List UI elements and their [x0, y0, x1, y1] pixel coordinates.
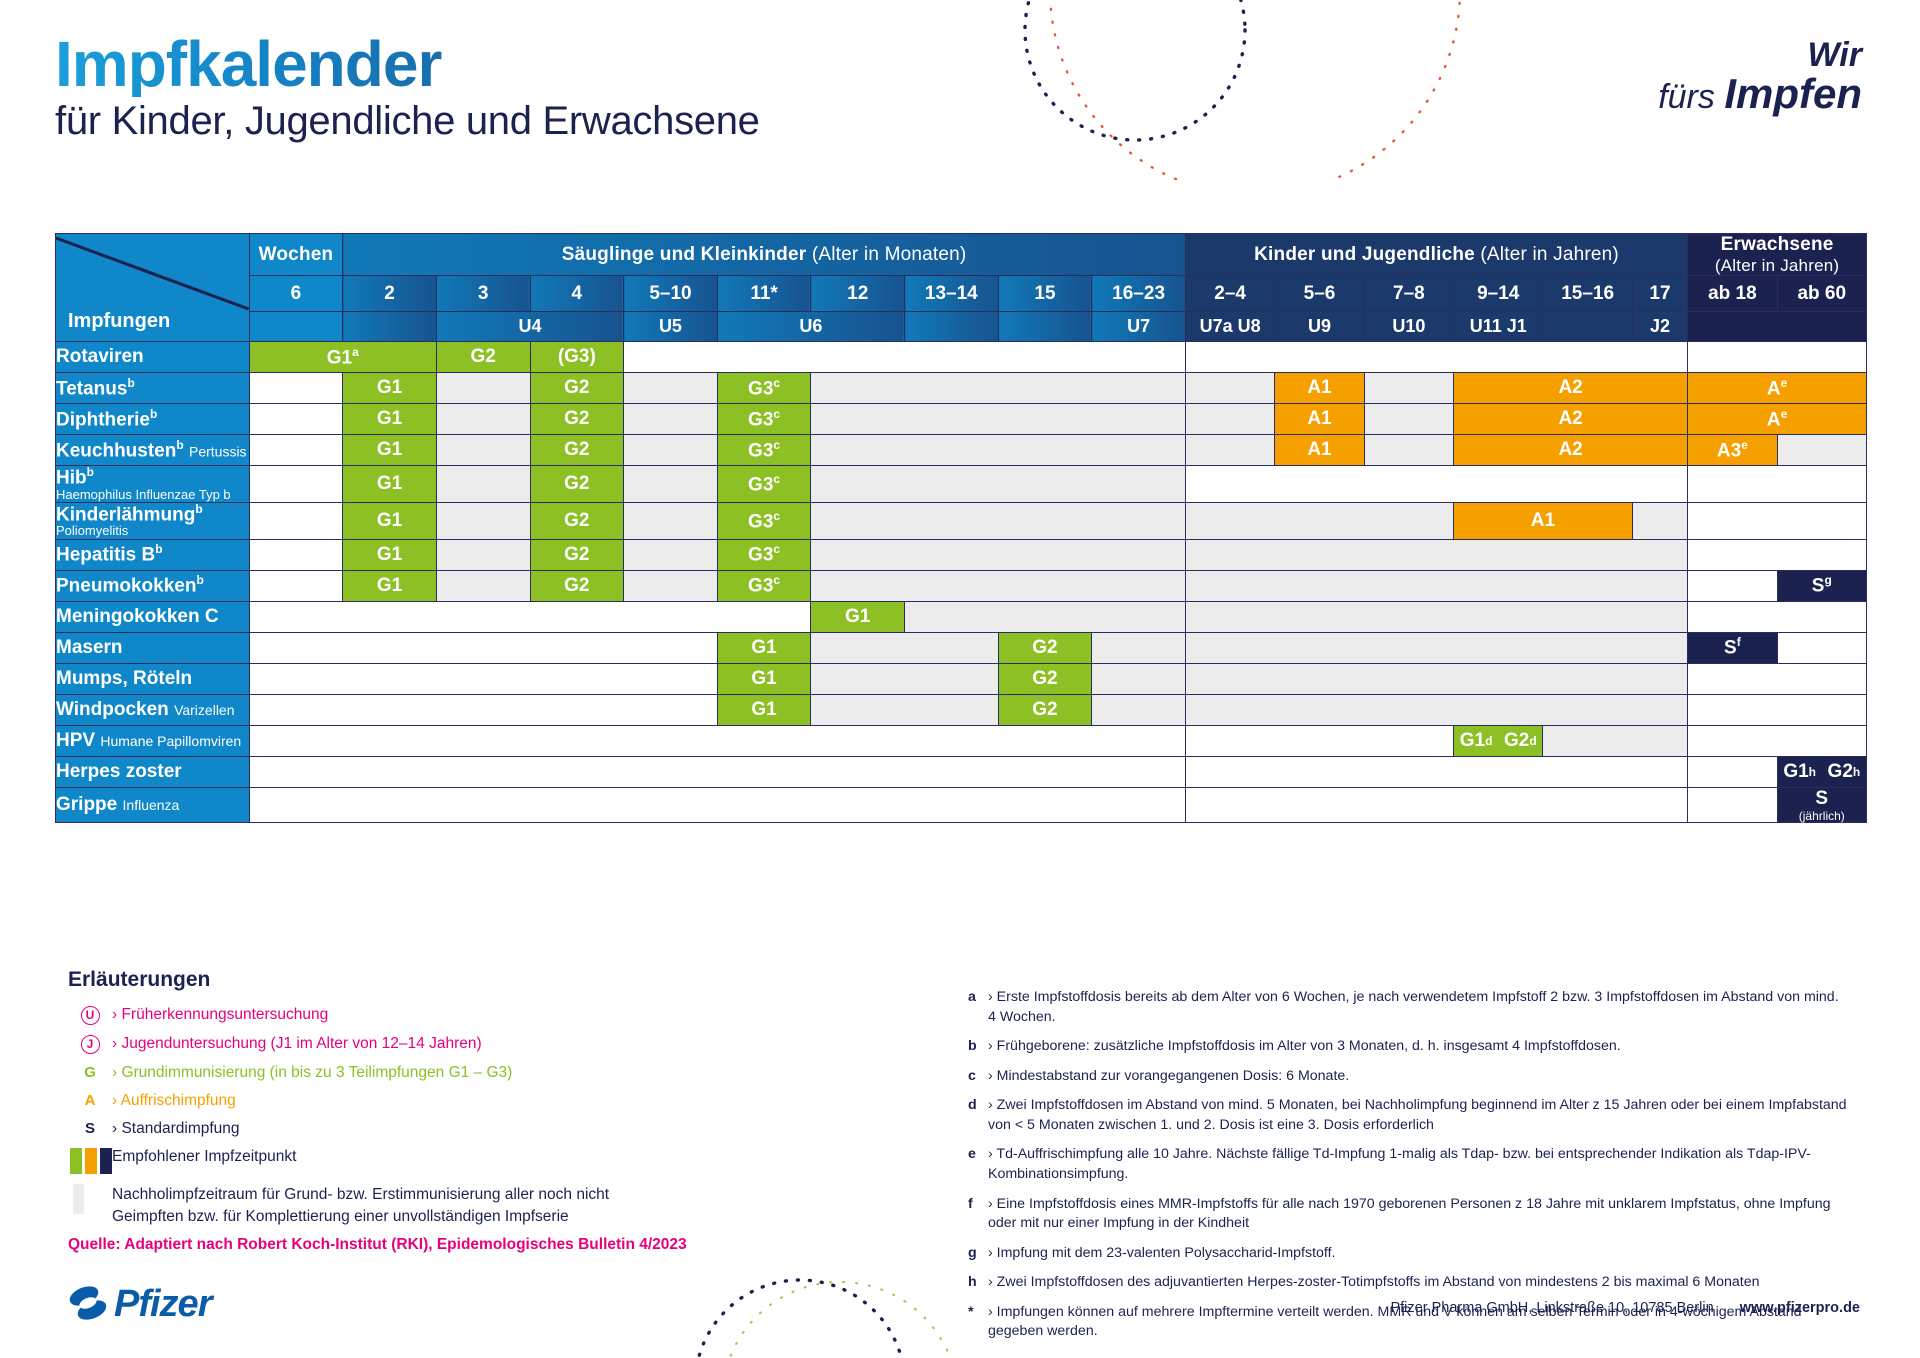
cell-empty-r10-c7 — [1777, 632, 1866, 663]
cell-empty-r9-c2 — [905, 601, 1186, 632]
pfizer-helix-icon — [68, 1282, 114, 1326]
ucode-j2: J2 — [1632, 312, 1687, 342]
page-title: Impfkalender — [55, 32, 760, 97]
cell-empty-r14-c2 — [1688, 756, 1777, 787]
cell-g1-r5: G1 — [343, 466, 437, 503]
cell-a2-r2: A2 — [1454, 373, 1688, 404]
cell-a1-r3: A1 — [1275, 404, 1364, 435]
legend-item-g: G› Grundimmunisierung (in bis zu 3 Teili… — [68, 1064, 828, 1082]
cell-empty-r2-c6 — [811, 373, 1186, 404]
cell-a1-r6: A1 — [1454, 503, 1633, 540]
cell-empty-r6-c2 — [436, 503, 530, 540]
masthead: Impfkalender für Kinder, Jugendliche und… — [55, 32, 760, 143]
ucode-u5: U5 — [624, 312, 718, 342]
cell-g1-r11: G1 — [717, 663, 811, 694]
cell-g3-r6: G3c — [717, 503, 811, 540]
cell-empty-r7-c7 — [1185, 539, 1687, 570]
footnote-a: a› Erste Impfstoffdosis bereits ab dem A… — [968, 988, 1848, 1028]
company-url[interactable]: www.pfizerpro.de — [1740, 1300, 1860, 1316]
age-15-16y: 15–16 — [1543, 276, 1632, 312]
age-17y: 17 — [1632, 276, 1687, 312]
cell-g3-r7: G3c — [717, 539, 811, 570]
vaccination-calendar: Impfungen Wochen Säuglinge und Kleinkind… — [55, 233, 1867, 823]
vaccine-name-9[interactable]: Meningokokken C — [56, 601, 250, 632]
cell-empty-r9-c0 — [249, 601, 811, 632]
legend-item-text: › Auffrischimpfung — [112, 1092, 828, 1110]
ucode-row: U4 U5 U6 U7 U7a U8 U9 U10 U11 J1 J2 — [56, 312, 1867, 342]
group-adults-label: Erwachsene — [1721, 234, 1834, 255]
cell-g1-r10: G1 — [717, 632, 811, 663]
cell-g2-r10: G2 — [998, 632, 1092, 663]
cell-a1-r2: A1 — [1275, 373, 1364, 404]
cell-empty-r12-c5 — [1185, 694, 1687, 725]
footnotes: a› Erste Impfstoffdosis bereits ab dem A… — [968, 988, 1848, 1352]
group-infants-label: Säuglinge und Kleinkinder — [562, 244, 807, 265]
cell-empty-r8-c4 — [624, 570, 718, 601]
cell-empty-r15-c2 — [1688, 787, 1777, 822]
cell-empty-r5-c8 — [1688, 466, 1867, 503]
cell-empty-r7-c6 — [811, 539, 1186, 570]
group-infants: Säuglinge und Kleinkinder (Alter in Mona… — [343, 234, 1186, 276]
vaccine-name-7[interactable]: Hepatitis Bb — [56, 539, 250, 570]
legend-item-j: J› Jugenduntersuchung (J1 im Alter von 1… — [68, 1035, 828, 1054]
cell-empty-r8-c7 — [1185, 570, 1687, 601]
footnote-key: h — [968, 1273, 988, 1293]
legend-key-icon: U — [68, 1006, 112, 1025]
cell-empty-r4-c2 — [436, 435, 530, 466]
ucode-u7a-u8: U7a U8 — [1185, 312, 1274, 342]
legend-key-icon: S — [68, 1120, 112, 1137]
claim-line-1: Wir — [1658, 38, 1862, 73]
vaccine-name-11[interactable]: Mumps, Röteln — [56, 663, 250, 694]
age-9-14y: 9–14 — [1454, 276, 1543, 312]
dotted-circle-decoration-top — [1015, 0, 1575, 180]
cell-empty-r13-c1 — [1185, 725, 1453, 756]
cell-empty-r3-c0 — [249, 404, 343, 435]
footnote-key: f — [968, 1195, 988, 1235]
cell-g1-r12: G1 — [717, 694, 811, 725]
pfizer-logo: Pfizer — [68, 1282, 211, 1326]
cell-g3-r3: G3c — [717, 404, 811, 435]
table-row: KinderlähmungbPoliomyelitisG1G2G3cA1 — [56, 503, 1867, 540]
cell-g2-r5: G2 — [530, 466, 624, 503]
cell-empty-r12-c4 — [1092, 694, 1186, 725]
table-row: Hepatitis BbG1G2G3c — [56, 539, 1867, 570]
footnote-f: f› Eine Impfstoffdosis eines MMR-Impfsto… — [968, 1195, 1848, 1235]
cell-empty-r11-c5 — [1185, 663, 1687, 694]
ucode-blank-1 — [249, 312, 343, 342]
pfizer-wordmark: Pfizer — [114, 1283, 211, 1326]
cell-empty-r5-c6 — [811, 466, 1186, 503]
table-row: Keuchhustenb PertussisG1G2G3cA1A2A3e — [56, 435, 1867, 466]
cell-a1-r4: A1 — [1275, 435, 1364, 466]
footnote-d: d› Zwei Impfstoffdosen im Abstand von mi… — [968, 1096, 1848, 1136]
cell-empty-r8-c0 — [249, 570, 343, 601]
age-ab60: ab 60 — [1777, 276, 1866, 312]
group-children-label: Kinder und Jugendliche — [1254, 244, 1475, 265]
cell-empty-r3-c2 — [436, 404, 530, 435]
footnote-e: e› Td-Auffrischimpfung alle 10 Jahre. Nä… — [968, 1145, 1848, 1185]
legend-items: U› FrüherkennungsuntersuchungJ› Jugendun… — [68, 1006, 828, 1138]
cell-empty-r14-c1 — [1185, 756, 1687, 787]
legend-item-a: A› Auffrischimpfung — [68, 1092, 828, 1110]
cell-empty-r4-c6 — [811, 435, 1186, 466]
cell-empty-r7-c2 — [436, 539, 530, 570]
ucode-u4: U4 — [436, 312, 623, 342]
cell-a-r2: Ae — [1688, 373, 1867, 404]
cell-empty-r10-c5 — [1185, 632, 1687, 663]
legend-item-text: › Jugenduntersuchung (J1 im Alter von 12… — [112, 1035, 828, 1053]
legend-item-text: › Standardimpfung — [112, 1120, 828, 1138]
legend-item-text: › Grundimmunisierung (in bis zu 3 Teilim… — [112, 1064, 828, 1082]
cell-empty-r1-c4 — [1185, 342, 1687, 373]
table-row: Grippe InfluenzaS(jährlich) — [56, 787, 1867, 822]
footnote-key: e — [968, 1145, 988, 1185]
table-row: TetanusbG1G2G3cA1A2Ae — [56, 373, 1867, 404]
cell-empty-r4-c0 — [249, 435, 343, 466]
cell-g2-r7: G2 — [530, 539, 624, 570]
age-6w: 6 — [249, 276, 343, 312]
cell-empty-r7-c0 — [249, 539, 343, 570]
ucode-u7: U7 — [1092, 312, 1186, 342]
vaccine-name-1[interactable]: Rotaviren — [56, 342, 250, 373]
age-16-23m: 16–23 — [1092, 276, 1186, 312]
table-row: HibbHaemophilus Influenzae Typ bG1G2G3c — [56, 466, 1867, 503]
footnote-text: › Td-Auffrischimpfung alle 10 Jahre. Näc… — [988, 1145, 1848, 1185]
footer-contact: Pfizer Pharma GmbH, Linkstraße 10, 10785… — [1390, 1300, 1860, 1316]
cell-g3-r2: G3c — [717, 373, 811, 404]
corner-label: Impfungen — [56, 310, 249, 341]
cell-empty-r10-c2 — [811, 632, 998, 663]
cell-hpv-split: G1dG2d — [1454, 725, 1543, 756]
footnote-text: › Erste Impfstoffdosis bereits ab dem Al… — [988, 988, 1848, 1028]
ucode-blank-4 — [998, 312, 1092, 342]
age-2m: 2 — [343, 276, 437, 312]
age-13-14m: 13–14 — [905, 276, 999, 312]
vaccine-name-4[interactable]: Keuchhustenb Pertussis — [56, 435, 250, 466]
impfkalender-poster: Impfkalender für Kinder, Jugendliche und… — [0, 0, 1920, 1358]
cell-empty-r2-c2 — [436, 373, 530, 404]
vaccine-name-3[interactable]: Diphtherieb — [56, 404, 250, 435]
age-11m: 11* — [717, 276, 811, 312]
dotted-circle-decoration-bottom — [690, 1270, 970, 1358]
cell-g1-r1: G1a — [249, 342, 436, 373]
cell-g2-r8: G2 — [530, 570, 624, 601]
footnote-c: c› Mindestabstand zur vorangegangenen Do… — [968, 1067, 1848, 1087]
cell-g3-r8: G3c — [717, 570, 811, 601]
cell-s-r15: S(jährlich) — [1777, 787, 1866, 822]
ucode-u11-j1: U11 J1 — [1454, 312, 1543, 342]
age-7-8y: 7–8 — [1364, 276, 1453, 312]
legend-swatch-row: Empfohlener Impfzeitpunkt — [68, 1148, 828, 1174]
calendar-table: Impfungen Wochen Säuglinge und Kleinkind… — [55, 233, 1867, 823]
cell-g2-r4: G2 — [530, 435, 624, 466]
cell-empty-r2-c4 — [624, 373, 718, 404]
footnote-text: › Mindestabstand zur vorangegangenen Dos… — [988, 1067, 1848, 1087]
legend-key-icon: G — [68, 1064, 112, 1081]
claim-line-2: fürs Impfen — [1658, 73, 1862, 116]
age-15m: 15 — [998, 276, 1092, 312]
cell-empty-r9-c4 — [1688, 601, 1867, 632]
vaccine-name-10[interactable]: Masern — [56, 632, 250, 663]
calendar-header: Impfungen Wochen Säuglinge und Kleinkind… — [56, 234, 1867, 342]
legend-catchup-row: Nachholimpfzeitraum für Grund- bzw. Erst… — [68, 1184, 828, 1229]
cell-empty-r2-c9 — [1364, 373, 1453, 404]
cell-empty-r11-c6 — [1688, 663, 1867, 694]
table-row: Windpocken VarizellenG1G2 — [56, 694, 1867, 725]
vaccine-name-5[interactable]: HibbHaemophilus Influenzae Typ b — [56, 466, 250, 503]
cell-empty-r3-c7 — [1185, 404, 1274, 435]
cell-empty-r4-c9 — [1364, 435, 1453, 466]
table-row: Herpes zosterG1hG2h — [56, 756, 1867, 787]
cell-g1-r8: G1 — [343, 570, 437, 601]
legend-item-u: U› Früherkennungsuntersuchung — [68, 1006, 828, 1025]
footnote-key: d — [968, 1096, 988, 1136]
cell-empty-r12-c2 — [811, 694, 998, 725]
cell-empty-r4-c12 — [1777, 435, 1866, 466]
cell-g2-r6: G2 — [530, 503, 624, 540]
legend-item-s: S› Standardimpfung — [68, 1120, 828, 1138]
cell-empty-r5-c4 — [624, 466, 718, 503]
footnote-text: › Eine Impfstoffdosis eines MMR-Impfstof… — [988, 1195, 1848, 1235]
footnote-key: * — [968, 1303, 988, 1343]
cell-g3-r5: G3c — [717, 466, 811, 503]
cell-empty-r6-c9 — [1632, 503, 1687, 540]
footnote-key: g — [968, 1244, 988, 1264]
cell-g1-r4: G1 — [343, 435, 437, 466]
cell-empty-r3-c6 — [811, 404, 1186, 435]
cell-g2-r1: G2 — [436, 342, 530, 373]
vaccine-name-15[interactable]: Grippe Influenza — [56, 787, 250, 822]
footnote-text: › Impfung mit dem 23-valenten Polysaccha… — [988, 1244, 1848, 1264]
source-note: Quelle: Adaptiert nach Robert Koch-Insti… — [68, 1236, 687, 1254]
cell-hz-split: G1hG2h — [1777, 756, 1866, 787]
footnote-key: c — [968, 1067, 988, 1087]
vaccine-name-12[interactable]: Windpocken Varizellen — [56, 694, 250, 725]
group-children: Kinder und Jugendliche (Alter in Jahren) — [1185, 234, 1687, 276]
company-address: Pfizer Pharma GmbH, Linkstraße 10, 10785… — [1390, 1300, 1713, 1316]
group-adults: Erwachsene (Alter in Jahren) — [1688, 234, 1867, 276]
vaccine-name-13[interactable]: HPV Humane Papillomviren — [56, 725, 250, 756]
age-4m: 4 — [530, 276, 624, 312]
cell-empty-r5-c0 — [249, 466, 343, 503]
group-children-unit: (Alter in Jahren) — [1475, 244, 1619, 265]
age-12m: 12 — [811, 276, 905, 312]
page-subtitle: für Kinder, Jugendliche und Erwachsene — [55, 99, 760, 143]
cell-empty-r10-c4 — [1092, 632, 1186, 663]
cell-empty-r5-c7 — [1185, 466, 1687, 503]
cell-empty-r11-c4 — [1092, 663, 1186, 694]
age-row: 6 2 3 4 5–10 11* 12 13–14 15 16–23 2–4 5… — [56, 276, 1867, 312]
cell-empty-r14-c0 — [249, 756, 1185, 787]
cell-empty-r12-c0 — [249, 694, 717, 725]
ucode-blank-5 — [1543, 312, 1632, 342]
cell-empty-r6-c10 — [1688, 503, 1867, 540]
cell-g3-r4: G3c — [717, 435, 811, 466]
cell-g1-r6: G1 — [343, 503, 437, 540]
vaccine-name-2[interactable]: Tetanusb — [56, 373, 250, 404]
cell-empty-r6-c7 — [1185, 503, 1453, 540]
cell-empty-r8-c6 — [811, 570, 1186, 601]
table-row: DiphtheriebG1G2G3cA1A2Ae — [56, 404, 1867, 435]
table-row: Mumps, RötelnG1G2 — [56, 663, 1867, 694]
ucode-u6: U6 — [717, 312, 904, 342]
cell-empty-r4-c7 — [1185, 435, 1274, 466]
cell-g1-r9: G1 — [811, 601, 905, 632]
age-ab18: ab 18 — [1688, 276, 1777, 312]
cell-g1-r2: G1 — [343, 373, 437, 404]
group-weeks: Wochen — [249, 234, 343, 276]
cell-empty-r13-c0 — [249, 725, 1185, 756]
cell-g2-r11: G2 — [998, 663, 1092, 694]
cell-a-r3: Ae — [1688, 404, 1867, 435]
group-infants-unit: (Alter in Monaten) — [806, 244, 966, 265]
cell-empty-r4-c4 — [624, 435, 718, 466]
cell-empty-r5-c2 — [436, 466, 530, 503]
cell-s-r10: Sf — [1688, 632, 1777, 663]
cell-empty-r2-c0 — [249, 373, 343, 404]
legend-catchup-line2: Geimpften bzw. für Komplettierung einer … — [112, 1208, 569, 1225]
cell-empty-r3-c9 — [1364, 404, 1453, 435]
cell-empty-r3-c4 — [624, 404, 718, 435]
cell-g1-r3: G1 — [343, 404, 437, 435]
legend-item-text: › Früherkennungsuntersuchung — [112, 1006, 828, 1024]
calendar-body: RotavirenG1aG2(G3)TetanusbG1G2G3cA1A2AeD… — [56, 342, 1867, 822]
footnote-b: b› Frühgeborene: zusätzliche Impfstoffdo… — [968, 1037, 1848, 1057]
ucode-u9: U9 — [1275, 312, 1364, 342]
cell-empty-r10-c0 — [249, 632, 717, 663]
footnote-h: h› Zwei Impfstoffdosen des adjuvantierte… — [968, 1273, 1848, 1293]
cell-a3-r4: A3e — [1688, 435, 1777, 466]
table-row: MasernG1G2Sf — [56, 632, 1867, 663]
table-row: HPV Humane PapillomvirenG1dG2d — [56, 725, 1867, 756]
cell-empty-r13-c3 — [1543, 725, 1688, 756]
cell-g2-r3: G2 — [530, 404, 624, 435]
legend-key-icon: A — [68, 1092, 112, 1109]
cell-empty-r6-c4 — [624, 503, 718, 540]
cell-empty-r11-c2 — [811, 663, 998, 694]
table-row: PneumokokkenbG1G2G3cSg — [56, 570, 1867, 601]
table-row: Meningokokken CG1 — [56, 601, 1867, 632]
cell-s-r8: Sg — [1777, 570, 1866, 601]
cell-empty-r13-c4 — [1688, 725, 1867, 756]
legend: Erläuterungen U› Früherkennungsuntersuch… — [68, 968, 828, 1239]
cell-empty-r1-c5 — [1688, 342, 1867, 373]
cell-a2-r3: A2 — [1454, 404, 1688, 435]
group-adults-unit: (Alter in Jahren) — [1688, 256, 1866, 276]
cell-empty-r1-c3 — [624, 342, 1186, 373]
legend-heading: Erläuterungen — [68, 968, 828, 992]
cell-empty-r6-c0 — [249, 503, 343, 540]
ucode-u10: U10 — [1364, 312, 1453, 342]
legend-catchup-line1: Nachholimpfzeitraum für Grund- bzw. Erst… — [112, 1186, 609, 1203]
footnote-text: › Zwei Impfstoffdosen des adjuvantierten… — [988, 1273, 1848, 1293]
cell-g1-r7: G1 — [343, 539, 437, 570]
cell-empty-r12-c6 — [1688, 694, 1867, 725]
vaccine-name-6[interactable]: KinderlähmungbPoliomyelitis — [56, 503, 250, 540]
cell-g3-r1: (G3) — [530, 342, 624, 373]
cell-g2-r12: G2 — [998, 694, 1092, 725]
cell-empty-r15-c1 — [1185, 787, 1687, 822]
cell-empty-r9-c3 — [1185, 601, 1687, 632]
ucode-blank-2 — [343, 312, 437, 342]
footnote-key: a — [968, 988, 988, 1028]
color-swatches-icon — [68, 1148, 112, 1174]
footnote-text: › Frühgeborene: zusätzliche Impfstoffdos… — [988, 1037, 1848, 1057]
footnote-text: › Zwei Impfstoffdosen im Abstand von min… — [988, 1096, 1848, 1136]
age-2-4y: 2–4 — [1185, 276, 1274, 312]
age-5-6y: 5–6 — [1275, 276, 1364, 312]
legend-key-icon: J — [68, 1035, 112, 1054]
vaccine-name-8[interactable]: Pneumokokkenb — [56, 570, 250, 601]
cell-empty-r8-c8 — [1688, 570, 1777, 601]
vaccine-name-14[interactable]: Herpes zoster — [56, 756, 250, 787]
cell-empty-r2-c7 — [1185, 373, 1274, 404]
footnote-g: g› Impfung mit dem 23-valenten Polysacch… — [968, 1244, 1848, 1264]
group-weeks-label: Wochen — [259, 244, 334, 265]
grey-swatch-icon — [68, 1184, 112, 1214]
cell-empty-r7-c8 — [1688, 539, 1867, 570]
cell-g2-r2: G2 — [530, 373, 624, 404]
age-3m: 3 — [436, 276, 530, 312]
ucode-blank-6 — [1688, 312, 1867, 342]
campaign-claim: Wir fürs Impfen — [1658, 38, 1862, 116]
legend-swatch-label: Empfohlener Impfzeitpunkt — [112, 1148, 828, 1166]
footnote-key: b — [968, 1037, 988, 1057]
table-row: RotavirenG1aG2(G3) — [56, 342, 1867, 373]
ucode-blank-3 — [905, 312, 999, 342]
age-5-10m: 5–10 — [624, 276, 718, 312]
cell-empty-r7-c4 — [624, 539, 718, 570]
cell-empty-r8-c2 — [436, 570, 530, 601]
cell-empty-r11-c0 — [249, 663, 717, 694]
cell-empty-r15-c0 — [249, 787, 1185, 822]
corner-cell: Impfungen — [56, 234, 250, 342]
cell-empty-r6-c6 — [811, 503, 1186, 540]
cell-a2-r4: A2 — [1454, 435, 1688, 466]
